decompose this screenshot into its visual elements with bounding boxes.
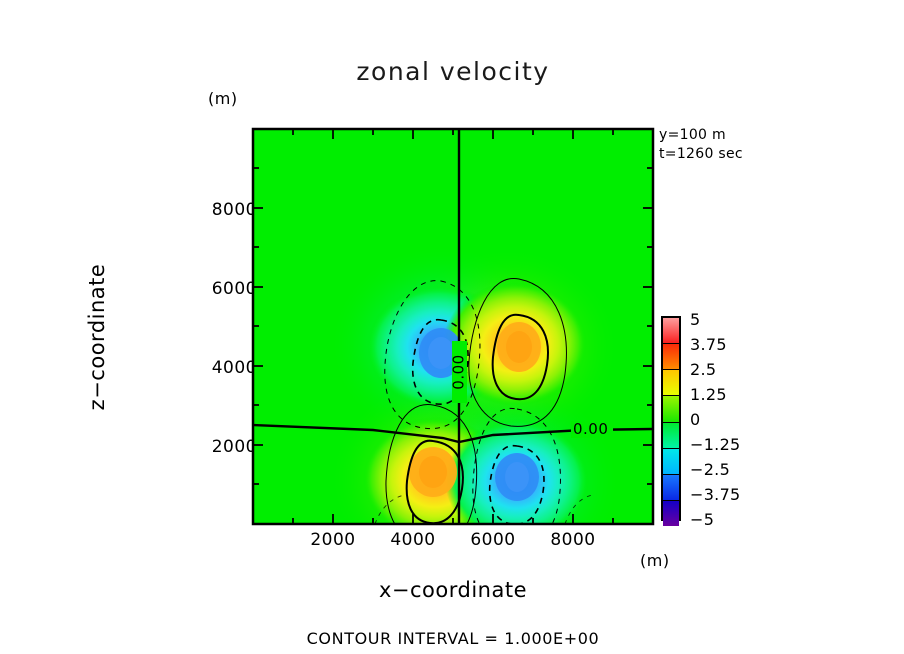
colorbar-band-5 — [663, 448, 679, 474]
axis-ticks — [253, 129, 653, 524]
x-axis-title: x−coordinate — [253, 578, 653, 602]
y-axis-title: z−coordinate — [85, 227, 109, 447]
colorbar-label-5: −1.25 — [690, 435, 741, 454]
colorbar-band-6 — [663, 474, 679, 500]
colorbar-band-0 — [663, 318, 679, 343]
y-axis-unit: (m) — [208, 89, 238, 108]
colorbar-band-1 — [663, 343, 679, 369]
colorbar-label-6: −2.5 — [690, 460, 730, 479]
axis-frame — [246, 122, 666, 537]
colorbar-band-2 — [663, 369, 679, 395]
colorbar-band-4 — [663, 422, 679, 448]
slice-annotation: y=100 m — [659, 127, 726, 143]
colorbar-label-0: 5 — [690, 310, 700, 329]
colorbar-label-1: 3.75 — [690, 335, 727, 354]
plot-border — [253, 129, 653, 524]
colorbar-label-4: 0 — [690, 410, 700, 429]
colorbar-label-3: 1.25 — [690, 385, 727, 404]
colorbar-band-3 — [663, 395, 679, 421]
colorbar-label-8: −5 — [690, 510, 714, 529]
colorbar-label-7: −3.75 — [690, 485, 741, 504]
x-axis-unit: (m) — [640, 551, 670, 570]
colorbar — [661, 316, 681, 521]
figure-canvas: zonal velocity (m) (m) z−coordinate x−co… — [0, 0, 904, 654]
colorbar-label-2: 2.5 — [690, 360, 716, 379]
colorbar-band-7 — [663, 500, 679, 526]
page-title: zonal velocity — [0, 57, 904, 86]
time-annotation: t=1260 sec — [659, 146, 743, 162]
figure-caption: CONTOUR INTERVAL = 1.000E+00 — [0, 629, 904, 648]
